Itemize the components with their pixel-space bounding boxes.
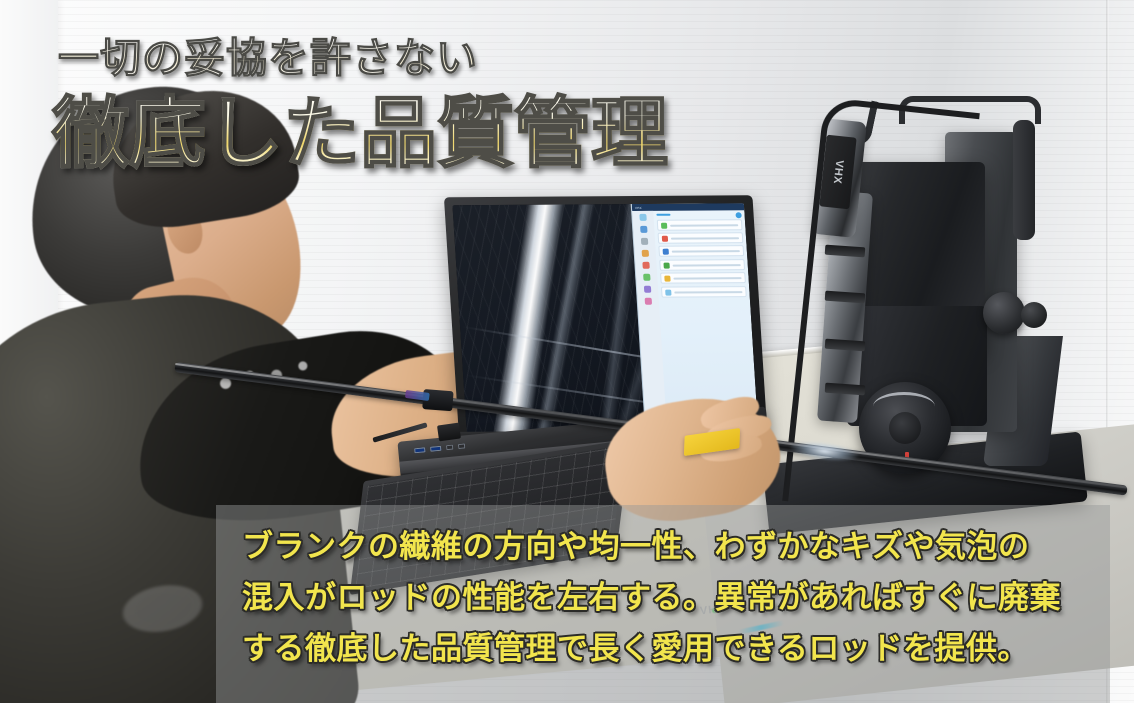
main-headline: 徹底した品質管理 <box>52 96 668 173</box>
caption-line-3: する徹底した品質管理で長く愛用できるロッドを提供。 <box>242 629 1084 670</box>
usb-port <box>414 447 425 453</box>
rail-icon-5[interactable] <box>642 262 649 269</box>
row-icon <box>664 262 670 268</box>
rod-guide-wrap <box>405 390 430 401</box>
desk-clip <box>437 423 461 442</box>
panel-active-tab[interactable] <box>657 214 671 216</box>
focus-knob-small[interactable] <box>1021 302 1047 328</box>
row-icon <box>661 222 667 228</box>
focus-knob-large[interactable] <box>983 292 1025 334</box>
caption-line-2: 混入がロッドの性能を左右する。異常があればすぐに廃棄 <box>242 578 1084 619</box>
rail-icon-6[interactable] <box>643 274 650 281</box>
rail-icon-8[interactable] <box>645 298 652 305</box>
row-text <box>675 291 743 293</box>
digital-microscope: VHX <box>795 96 1085 496</box>
row-icon <box>664 275 670 281</box>
rail-icon-4[interactable] <box>642 250 649 257</box>
row-icon <box>663 248 669 254</box>
usb-port <box>430 446 441 452</box>
panel-title: VHX <box>635 205 642 209</box>
rail-icon-1[interactable] <box>639 214 646 221</box>
list-item[interactable] <box>660 272 746 284</box>
promo-banner: VHX VHX <box>0 0 1134 703</box>
base-unit-ports <box>414 443 465 453</box>
rail-icon-3[interactable] <box>641 238 648 245</box>
panel-avatar-icon[interactable] <box>735 212 741 218</box>
caption-line-1: ブランクの繊維の方向や均一性、わずかなキズや気泡の <box>242 527 1084 568</box>
kicker-heading: 一切の妥協を許さない <box>58 38 478 79</box>
list-item[interactable] <box>661 286 747 298</box>
row-text <box>674 277 742 279</box>
aux-port <box>446 445 453 451</box>
row-text <box>671 237 739 239</box>
aux-port <box>458 443 465 449</box>
caption-box: ブランクの繊維の方向や均一性、わずかなキズや気泡の 混入がロッドの性能を左右する… <box>216 505 1110 703</box>
row-text <box>673 264 741 266</box>
rail-icon-2[interactable] <box>640 226 647 233</box>
microscope-side-arm <box>1013 120 1035 240</box>
list-item[interactable] <box>660 259 746 271</box>
list-item[interactable] <box>659 245 745 257</box>
rail-icon-7[interactable] <box>644 286 651 293</box>
row-text <box>672 250 740 252</box>
row-text <box>670 224 738 226</box>
row-icon <box>665 289 671 295</box>
list-item[interactable] <box>658 232 744 244</box>
row-icon <box>662 235 668 241</box>
list-item[interactable] <box>657 219 743 231</box>
